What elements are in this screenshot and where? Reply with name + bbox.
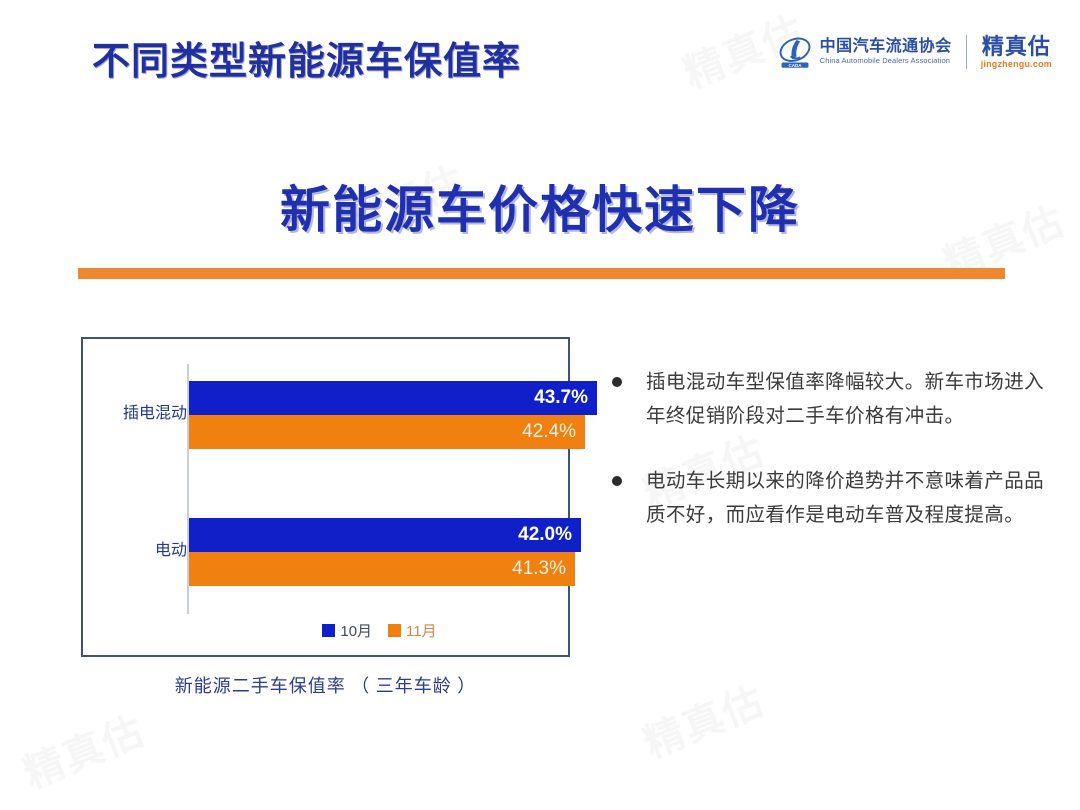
brand-divider <box>966 35 967 69</box>
bar-series-11月-电动: 41.3% <box>189 552 575 586</box>
chart-panel: 插电混动 43.7% 42.4% 电动 42.0% 41.3% <box>81 337 570 657</box>
jingzhengu-url: jingzhengu.com <box>981 60 1052 69</box>
header-title: 不同类型新能源车保值率 <box>92 30 521 85</box>
title-underline-rule <box>78 268 1005 279</box>
cada-name-en: China Automobile Dealers Association <box>820 57 952 65</box>
cada-name-cn: 中国汽车流通协会 <box>820 39 952 56</box>
list-item: 插电混动车型保值率降幅较大。新车市场进入年终促销阶段对二手车价格有冲击。 <box>604 366 1044 433</box>
legend-item-10月[interactable]: 10月 <box>322 620 372 641</box>
bottom-right-stripe-decoration <box>930 650 1080 810</box>
jingzhengu-logo: 精真估 jingzhengu.com <box>981 35 1052 70</box>
category-label: 插电混动 <box>91 399 187 423</box>
slide-canvas: 精真估 精真估 精真估 精真估 精真估 精真估 不同类型新能源车保值率 CADA… <box>0 0 1080 810</box>
legend-swatch-icon <box>322 624 335 637</box>
cada-swirl-icon: CADA <box>777 34 813 70</box>
list-item-text: 电动车长期以来的降价趋势并不意味着产品品质不好，而应看作是电动车普及程度提高。 <box>646 470 1044 526</box>
chart-legend: 10月 11月 <box>187 620 572 641</box>
watermark: 精真估 <box>634 669 773 770</box>
bar-value-label: 43.7% <box>534 387 588 409</box>
list-item: 电动车长期以来的降价趋势并不意味着产品品质不好，而应看作是电动车普及程度提高。 <box>604 465 1044 532</box>
main-title: 新能源车价格快速下降 <box>0 170 1080 242</box>
jingzhengu-name-cn: 精真估 <box>982 35 1051 58</box>
insights-list: 插电混动车型保值率降幅较大。新车市场进入年终促销阶段对二手车价格有冲击。 电动车… <box>604 366 1044 564</box>
legend-label: 10月 <box>340 620 372 641</box>
legend-item-11月[interactable]: 11月 <box>388 620 437 641</box>
bullet-dot-icon <box>612 377 622 387</box>
bar-series-10月-插电混动: 43.7% <box>189 381 597 415</box>
bar-series-11月-插电混动: 42.4% <box>189 415 585 449</box>
cada-logo: CADA 中国汽车流通协会 China Automobile Dealers A… <box>777 34 952 70</box>
chart-plot-area: 插电混动 43.7% 42.4% 电动 42.0% 41.3% <box>83 339 572 659</box>
bar-series-10月-电动: 42.0% <box>189 518 581 552</box>
svg-text:CADA: CADA <box>788 63 802 68</box>
watermark: 精真估 <box>14 699 153 800</box>
list-item-text: 插电混动车型保值率降幅较大。新车市场进入年终促销阶段对二手车价格有冲击。 <box>646 371 1044 427</box>
bar-value-label: 42.0% <box>518 524 572 546</box>
brand-lockup: CADA 中国汽车流通协会 China Automobile Dealers A… <box>777 34 1052 70</box>
slide-header: 不同类型新能源车保值率 CADA 中国汽车流通协会 China Automobi… <box>0 0 1080 118</box>
chart-caption: 新能源二手车保值率 （ 三年车龄 ） <box>81 672 570 698</box>
legend-label: 11月 <box>406 620 437 641</box>
bullet-dot-icon <box>612 476 622 486</box>
bar-value-label: 41.3% <box>512 558 566 580</box>
category-label: 电动 <box>91 536 187 560</box>
bar-value-label: 42.4% <box>522 421 576 443</box>
legend-swatch-icon <box>388 624 401 637</box>
